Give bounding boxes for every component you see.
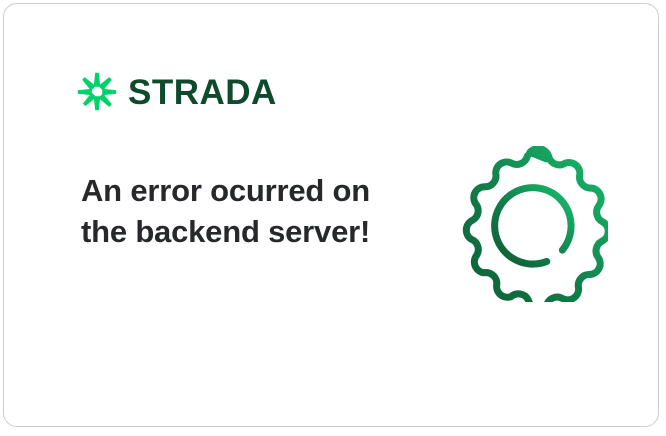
strada-asterisk-icon bbox=[77, 72, 117, 112]
gear-cog-icon bbox=[452, 146, 608, 302]
error-message: An error ocurred on the backend server! bbox=[81, 170, 371, 252]
brand-wordmark: STRADA bbox=[128, 75, 277, 110]
brand-logo: STRADA bbox=[77, 72, 277, 112]
error-card: STRADA An error ocurred on the backend s… bbox=[3, 3, 659, 427]
